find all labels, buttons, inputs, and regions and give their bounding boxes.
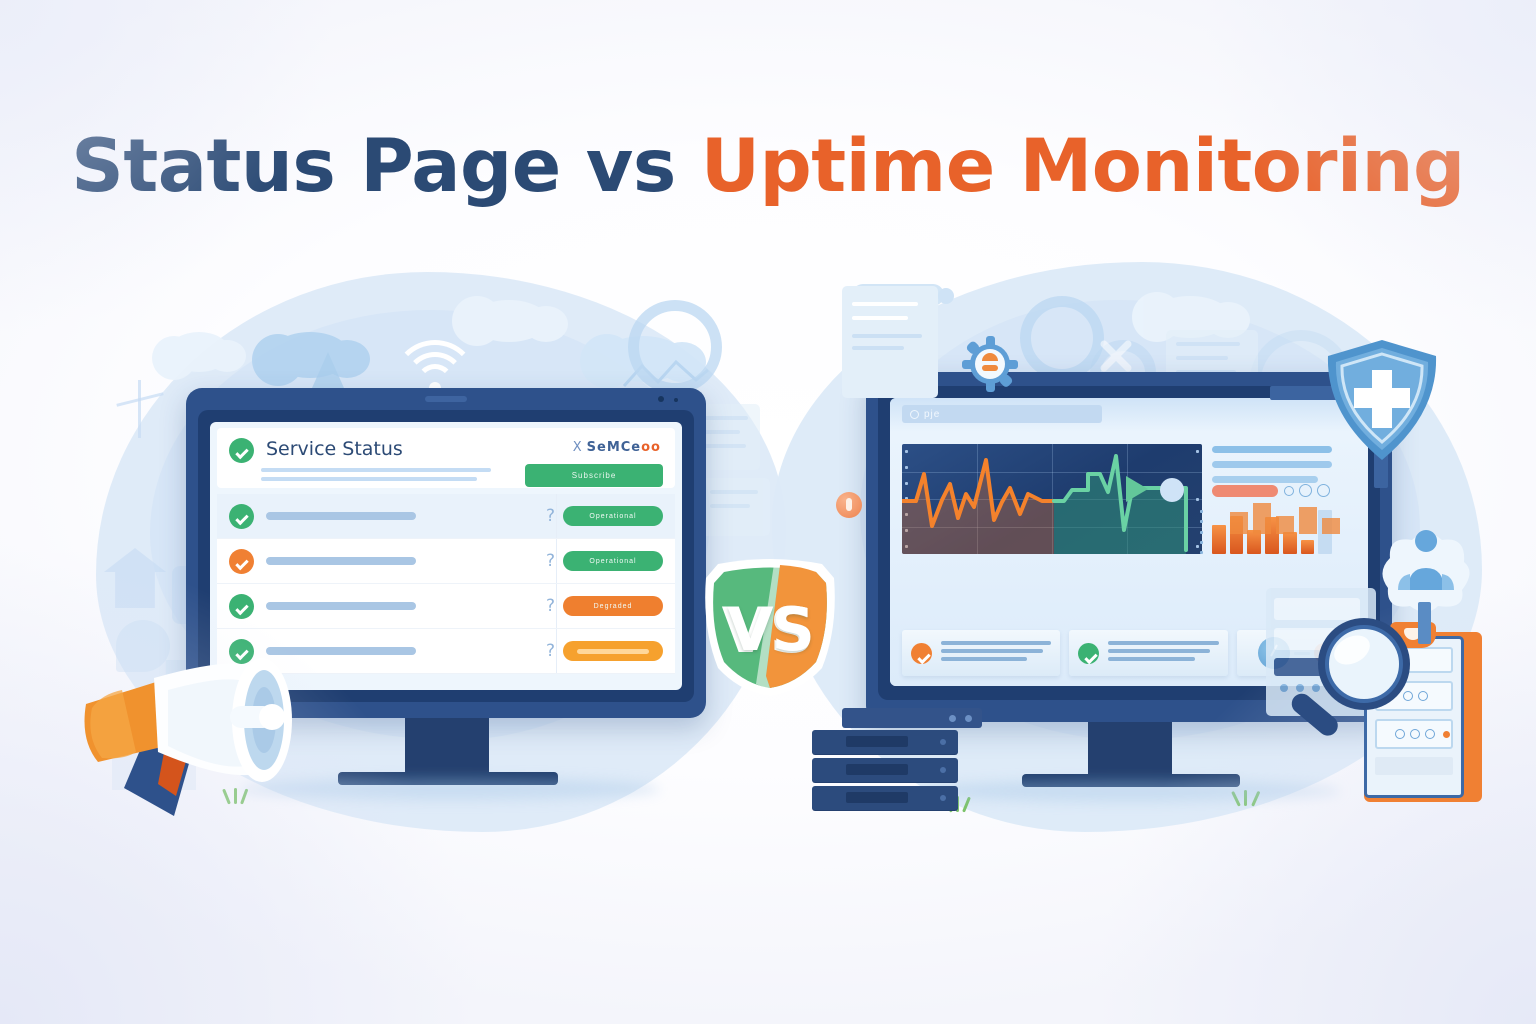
- status-header-card: Service Status XSeMCeoo Subscribe: [217, 428, 675, 488]
- check-circle-icon: [229, 594, 254, 619]
- row-divider: [556, 629, 557, 673]
- server-unit: [812, 758, 958, 782]
- monitor-neck: [1088, 722, 1172, 778]
- placeholder-text-lines: [1108, 641, 1218, 665]
- monitor-neck: [405, 718, 489, 776]
- background-dot-shape: [938, 288, 954, 304]
- service-name-placeholder: [266, 557, 416, 565]
- vs-badge: VS: [688, 556, 852, 698]
- url-bar[interactable]: pje: [902, 405, 1102, 423]
- response-time-chart[interactable]: [902, 444, 1202, 554]
- server-stack-icon: [812, 722, 978, 806]
- check-circle-icon: [911, 643, 932, 664]
- brand-x-mark: X: [573, 440, 583, 455]
- list-item[interactable]: ? Operational: [217, 494, 675, 539]
- document-card: [842, 286, 938, 398]
- background-card-shape: [700, 478, 770, 536]
- status-badge: [563, 641, 663, 661]
- status-dot: [1160, 478, 1184, 502]
- status-badge: Degraded: [563, 596, 663, 616]
- row-marker: ?: [546, 506, 555, 526]
- clipboard-row: [1375, 757, 1453, 775]
- placeholder-text-lines: [261, 468, 491, 486]
- led-dot: [674, 398, 678, 402]
- floor-shadow: [920, 780, 1340, 802]
- alert-badge-icon: [836, 492, 862, 518]
- user-badge-icon: [1372, 528, 1480, 618]
- bar-chart-ticks: [1200, 510, 1203, 554]
- close-icon: [1096, 336, 1136, 376]
- status-badge: Operational: [563, 551, 663, 571]
- row-marker: ?: [546, 551, 555, 571]
- cloud-icon: [470, 300, 548, 342]
- chart-series: [902, 444, 1202, 554]
- vs-label: VS: [722, 594, 815, 667]
- row-marker: ?: [546, 641, 555, 661]
- service-name-placeholder: [266, 602, 416, 610]
- gear-badge-icon: [962, 336, 1018, 392]
- page-title-part-2: Uptime Monitoring: [701, 124, 1465, 209]
- led-dot: [658, 396, 664, 402]
- webcam-bar: [425, 396, 467, 402]
- site-favicon: [910, 410, 919, 419]
- cloud-icon: [168, 332, 230, 372]
- browser-toolbar: pje: [890, 398, 1368, 432]
- summary-card[interactable]: [902, 630, 1060, 676]
- status-page-heading: Service Status: [266, 438, 403, 460]
- check-circle-icon: [229, 504, 254, 529]
- brand-suffix: oo: [641, 440, 661, 455]
- list-item[interactable]: ? Operational: [217, 539, 675, 584]
- placeholder-text-lines: [941, 641, 1051, 665]
- play-icon[interactable]: [1126, 476, 1148, 502]
- illustration-canvas: Status Page vs Uptime Monitoring Service…: [0, 0, 1536, 1024]
- magnifier-icon: [1286, 612, 1416, 752]
- summary-card[interactable]: [1069, 630, 1227, 676]
- brand-name: SeMCe: [587, 440, 641, 455]
- metric-rings: [1284, 484, 1330, 497]
- server-unit: [812, 730, 958, 754]
- check-circle-icon: [229, 438, 254, 463]
- server-unit: [812, 786, 958, 810]
- status-badge: Operational: [563, 506, 663, 526]
- alert-bar: [1212, 485, 1278, 497]
- server-unit: [842, 708, 982, 728]
- page-title-part-1: Status Page vs: [71, 124, 700, 209]
- page-title: Status Page vs Uptime Monitoring: [0, 124, 1536, 209]
- background-antenna-shape: [138, 380, 141, 438]
- gear-icon: [628, 300, 722, 394]
- service-name-placeholder: [266, 512, 416, 520]
- row-marker: ?: [546, 596, 555, 616]
- shield-plus-icon: [1322, 338, 1442, 464]
- connector-stem: [1418, 602, 1431, 644]
- row-divider: [556, 494, 557, 538]
- brand-logo: XSeMCeoo: [573, 440, 661, 455]
- background-bars-shape: [1230, 498, 1340, 534]
- megaphone-icon: [62, 620, 330, 820]
- url-text: pje: [924, 409, 940, 420]
- row-divider: [556, 539, 557, 583]
- subscribe-button[interactable]: Subscribe: [525, 464, 663, 487]
- check-circle-icon: [229, 549, 254, 574]
- check-circle-icon: [1078, 643, 1099, 664]
- row-divider: [556, 584, 557, 628]
